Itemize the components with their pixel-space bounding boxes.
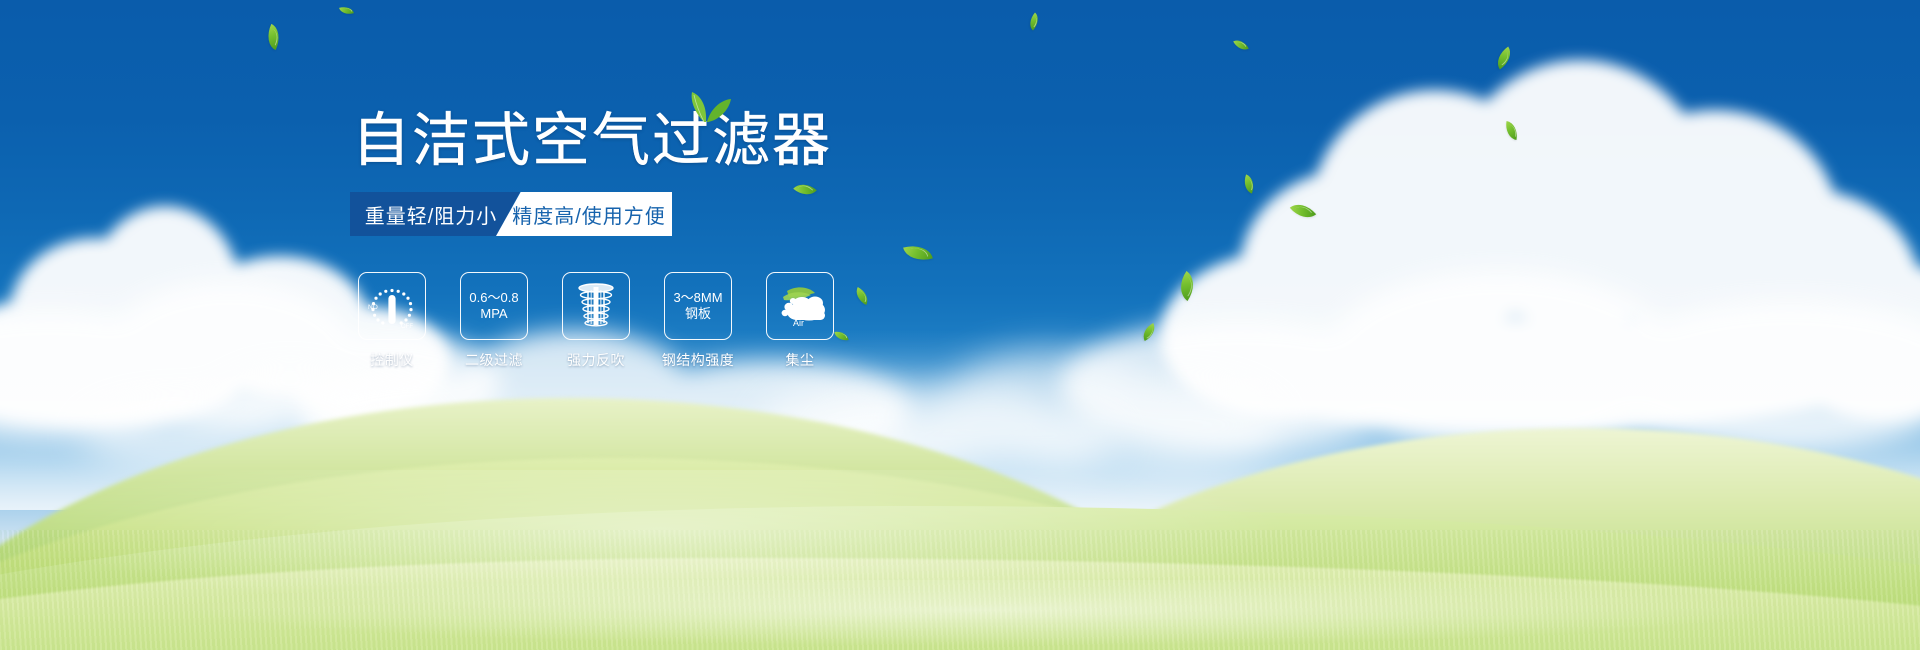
banner-content: 自洁式空气过滤器 重量轻/阻力小 精度高/使用方便: [0, 0, 1920, 650]
dust-cloud-air-icon: Air: [771, 285, 829, 327]
gauge-label-no: NO: [368, 304, 378, 311]
gauge-label-off: OFF: [401, 324, 413, 330]
feature-label: 钢结构强度: [662, 350, 735, 370]
feature-item-dust[interactable]: Air 集尘: [766, 272, 834, 370]
feature-label: 强力反吹: [567, 350, 625, 370]
feature-item-backblow[interactable]: 强力反吹: [562, 272, 630, 370]
gauge-dial-icon: NO OFF: [365, 281, 419, 331]
product-hero-banner: 自洁式空气过滤器 重量轻/阻力小 精度高/使用方便: [0, 0, 1920, 650]
filter-cartridge-icon: [573, 281, 619, 331]
subtitle-tab-1[interactable]: 重量轻/阻力小: [350, 192, 520, 236]
feature-icon-box: [562, 272, 630, 340]
feature-label: 集尘: [786, 350, 815, 370]
subtitle-tab-2[interactable]: 精度高/使用方便: [496, 192, 672, 236]
feature-icon-box: 0.6～0.8 MPA: [460, 272, 528, 340]
air-label: Air: [793, 318, 804, 327]
title-leaf-icon: [678, 88, 734, 124]
pressure-text-icon-line1: 0.6～0.8: [469, 290, 518, 306]
feature-icon-box: 3～8MM 钢板: [664, 272, 732, 340]
feature-item-pressure[interactable]: 0.6～0.8 MPA 二级过滤: [460, 272, 528, 370]
feature-item-controller[interactable]: NO OFF 控制仪: [358, 272, 426, 370]
feature-icon-box: Air: [766, 272, 834, 340]
feature-label: 二级过滤: [465, 350, 523, 370]
feature-item-steel[interactable]: 3～8MM 钢板 钢结构强度: [664, 272, 732, 370]
page-title: 自洁式空气过滤器: [352, 112, 832, 170]
feature-list: NO OFF 控制仪 0.6～0.8 MPA 二级过滤: [358, 272, 834, 370]
feature-icon-box: NO OFF: [358, 272, 426, 340]
steel-plate-text-icon-line2: 钢板: [685, 306, 711, 322]
feature-label: 控制仪: [370, 350, 414, 370]
steel-plate-text-icon-line1: 3～8MM: [673, 290, 722, 306]
pressure-text-icon-line2: MPA: [480, 306, 507, 322]
